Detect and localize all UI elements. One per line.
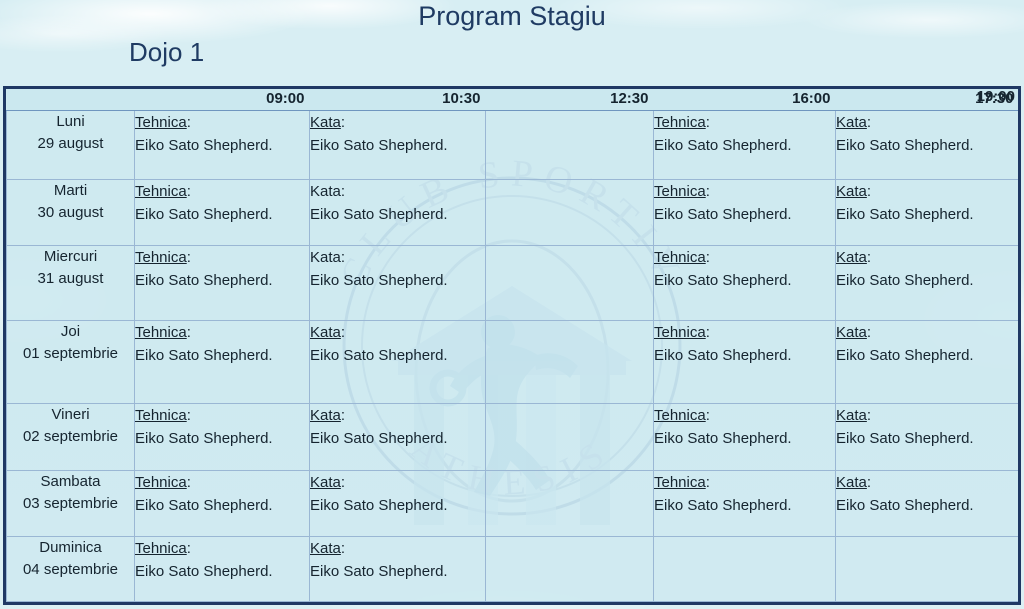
schedule-row: Vineri02 septembrieTehnica:Eiko Sato She… [7, 404, 1019, 471]
day-cell: Joi01 septembrie [7, 320, 135, 404]
schedule-slot-empty [654, 537, 836, 602]
day-cell: Vineri02 septembrie [7, 404, 135, 471]
slot-label-colon: : [341, 540, 345, 557]
slot-instructor: Eiko Sato Shepherd. [654, 134, 835, 157]
slot-instructor: Eiko Sato Shepherd. [135, 134, 309, 157]
slot-instructor: Eiko Sato Shepherd. [310, 344, 485, 367]
slot-label-colon: : [187, 183, 191, 200]
slot-label-colon: : [341, 474, 345, 491]
day-date: 31 august [7, 268, 134, 290]
schedule-slot: Kata:Eiko Sato Shepherd. [310, 111, 486, 180]
slot-activity-name: Kata [310, 324, 341, 341]
schedule-slot-empty [836, 537, 1019, 602]
slot-instructor: Eiko Sato Shepherd. [654, 427, 835, 450]
schedule-slot: Tehnica:Eiko Sato Shepherd. [135, 470, 310, 537]
slot-activity-label: Kata: [310, 404, 345, 427]
slot-instructor: Eiko Sato Shepherd. [654, 203, 835, 226]
slot-activity-name: Kata [836, 249, 867, 266]
slot-activity-label: Kata: [310, 471, 345, 494]
slot-label-colon: : [706, 249, 710, 266]
slot-instructor: Eiko Sato Shepherd. [135, 494, 309, 517]
slot-activity-label: Kata: [310, 246, 345, 269]
schedule-slot-empty [486, 537, 654, 602]
schedule-slot: Tehnica:Eiko Sato Shepherd. [654, 404, 836, 471]
time-header-0900: 09:00 [135, 89, 310, 111]
slot-activity-label: Kata: [836, 246, 871, 269]
schedule-body: Luni29 augustTehnica:Eiko Sato Shepherd.… [7, 111, 1019, 602]
schedule-slot: Kata:Eiko Sato Shepherd. [836, 179, 1019, 246]
slot-activity-name: Kata [836, 474, 867, 491]
day-date: 03 septembrie [7, 493, 134, 515]
slot-label-colon: : [187, 540, 191, 557]
schedule-slot: Kata:Eiko Sato Shepherd. [836, 470, 1019, 537]
slot-label-colon: : [187, 324, 191, 341]
day-cell: Luni29 august [7, 111, 135, 180]
slot-activity-name: Tehnica [135, 324, 187, 341]
schedule-slot: Kata:Eiko Sato Shepherd. [310, 470, 486, 537]
schedule-slot: Tehnica:Eiko Sato Shepherd. [135, 111, 310, 180]
slot-label-colon: : [867, 407, 871, 424]
slot-activity-name: Tehnica [135, 114, 187, 131]
slot-label-colon: : [706, 114, 710, 131]
time-header-row: 09:00 10:30 12:30 16:00 17:30 [7, 89, 1019, 111]
slot-activity-label: Tehnica: [135, 404, 191, 427]
slot-label-colon: : [341, 407, 345, 424]
schedule-slot: Tehnica:Eiko Sato Shepherd. [135, 404, 310, 471]
slot-activity-label: Kata: [836, 404, 871, 427]
slot-activity-label: Tehnica: [654, 321, 710, 344]
slot-instructor: Eiko Sato Shepherd. [310, 494, 485, 517]
slot-activity-label: Tehnica: [654, 111, 710, 134]
slot-label-colon: : [706, 407, 710, 424]
schedule-slot: Kata:Eiko Sato Shepherd. [310, 246, 486, 321]
slot-label-colon: : [867, 114, 871, 131]
slot-activity-name: Tehnica [654, 114, 706, 131]
schedule-table-frame: CLUB SPORTIV ATHESIS 09:00 10:30 12:30 [3, 86, 1021, 605]
slot-instructor: Eiko Sato Shepherd. [836, 134, 1018, 157]
schedule-slot-empty [486, 111, 654, 180]
day-name: Duminica [7, 537, 134, 559]
slot-instructor: Eiko Sato Shepherd. [654, 269, 835, 292]
slot-label-colon: : [341, 183, 345, 200]
day-date: 30 august [7, 202, 134, 224]
schedule-slot: Tehnica:Eiko Sato Shepherd. [135, 179, 310, 246]
schedule-slot: Kata:Eiko Sato Shepherd. [836, 404, 1019, 471]
slot-instructor: Eiko Sato Shepherd. [836, 344, 1018, 367]
slot-instructor: Eiko Sato Shepherd. [654, 494, 835, 517]
slot-activity-name: Kata [310, 183, 341, 200]
slot-activity-name: Kata [836, 114, 867, 131]
schedule-slot: Tehnica:Eiko Sato Shepherd. [654, 470, 836, 537]
slot-activity-name: Tehnica [135, 183, 187, 200]
slot-activity-name: Tehnica [135, 249, 187, 266]
time-header-1230: 12:30 [486, 89, 654, 111]
slot-label-colon: : [187, 474, 191, 491]
slot-activity-name: Tehnica [654, 474, 706, 491]
schedule-row: Luni29 augustTehnica:Eiko Sato Shepherd.… [7, 111, 1019, 180]
schedule-slot-empty [486, 404, 654, 471]
slot-activity-name: Kata [310, 114, 341, 131]
slot-instructor: Eiko Sato Shepherd. [310, 269, 485, 292]
schedule-row: Sambata03 septembrieTehnica:Eiko Sato Sh… [7, 470, 1019, 537]
day-name: Marti [7, 180, 134, 202]
slot-instructor: Eiko Sato Shepherd. [310, 427, 485, 450]
slot-label-colon: : [867, 249, 871, 266]
slot-activity-label: Tehnica: [135, 180, 191, 203]
slot-instructor: Eiko Sato Shepherd. [836, 269, 1018, 292]
slot-activity-label: Tehnica: [135, 471, 191, 494]
slot-label-colon: : [706, 474, 710, 491]
slot-activity-label: Kata: [836, 471, 871, 494]
schedule-slot: Tehnica:Eiko Sato Shepherd. [135, 537, 310, 602]
schedule-table: 09:00 10:30 12:30 16:00 17:30 Luni29 aug… [6, 89, 1019, 602]
slot-activity-label: Tehnica: [654, 404, 710, 427]
day-date: 02 septembrie [7, 426, 134, 448]
slot-activity-label: Kata: [310, 537, 345, 560]
schedule-slot: Kata:Eiko Sato Shepherd. [836, 111, 1019, 180]
schedule-slot-empty [486, 320, 654, 404]
day-name: Luni [7, 111, 134, 133]
day-name: Miercuri [7, 246, 134, 268]
schedule-slot: Kata:Eiko Sato Shepherd. [310, 404, 486, 471]
slot-label-colon: : [706, 183, 710, 200]
time-header-1730: 17:30 [836, 89, 1019, 111]
slot-activity-label: Tehnica: [135, 537, 191, 560]
slot-instructor: Eiko Sato Shepherd. [836, 494, 1018, 517]
schedule-slot: Tehnica:Eiko Sato Shepherd. [654, 111, 836, 180]
slot-instructor: Eiko Sato Shepherd. [654, 344, 835, 367]
slot-instructor: Eiko Sato Shepherd. [836, 427, 1018, 450]
schedule-row: Miercuri31 augustTehnica:Eiko Sato Sheph… [7, 246, 1019, 321]
slot-activity-name: Tehnica [135, 540, 187, 557]
time-header-1600: 16:00 [654, 89, 836, 111]
slot-label-colon: : [187, 249, 191, 266]
day-date: 29 august [7, 133, 134, 155]
slot-label-colon: : [187, 114, 191, 131]
schedule-slot-empty [486, 246, 654, 321]
day-cell: Miercuri31 august [7, 246, 135, 321]
slot-activity-name: Kata [310, 249, 341, 266]
schedule-slot: Tehnica:Eiko Sato Shepherd. [654, 320, 836, 404]
slot-activity-name: Kata [310, 474, 341, 491]
slot-activity-name: Kata [836, 324, 867, 341]
day-date: 04 septembrie [7, 559, 134, 581]
day-cell: Marti30 august [7, 179, 135, 246]
slot-activity-label: Tehnica: [654, 180, 710, 203]
slot-activity-name: Tehnica [135, 407, 187, 424]
slot-activity-label: Tehnica: [135, 246, 191, 269]
schedule-slot-empty [486, 179, 654, 246]
slot-instructor: Eiko Sato Shepherd. [310, 560, 485, 583]
slot-activity-label: Kata: [836, 111, 871, 134]
slot-activity-label: Tehnica: [135, 111, 191, 134]
day-name: Vineri [7, 404, 134, 426]
schedule-row: Duminica04 septembrieTehnica:Eiko Sato S… [7, 537, 1019, 602]
schedule-slot: Kata:Eiko Sato Shepherd. [310, 537, 486, 602]
schedule-slot-empty [486, 470, 654, 537]
slot-instructor: Eiko Sato Shepherd. [135, 560, 309, 583]
slot-instructor: Eiko Sato Shepherd. [135, 269, 309, 292]
slot-activity-name: Tehnica [654, 249, 706, 266]
slot-label-colon: : [341, 249, 345, 266]
schedule-slot: Kata:Eiko Sato Shepherd. [310, 320, 486, 404]
slot-label-colon: : [341, 114, 345, 131]
day-name: Sambata [7, 471, 134, 493]
slot-label-colon: : [867, 474, 871, 491]
slot-instructor: Eiko Sato Shepherd. [310, 203, 485, 226]
slot-activity-name: Tehnica [135, 474, 187, 491]
schedule-slot: Tehnica:Eiko Sato Shepherd. [135, 320, 310, 404]
slot-label-colon: : [867, 324, 871, 341]
schedule-slot: Kata:Eiko Sato Shepherd. [836, 246, 1019, 321]
schedule-slot: Kata:Eiko Sato Shepherd. [836, 320, 1019, 404]
slot-label-colon: : [187, 407, 191, 424]
day-cell: Duminica04 septembrie [7, 537, 135, 602]
schedule-row: Joi01 septembrieTehnica:Eiko Sato Shephe… [7, 320, 1019, 404]
slot-instructor: Eiko Sato Shepherd. [135, 203, 309, 226]
schedule-slot: Tehnica:Eiko Sato Shepherd. [135, 246, 310, 321]
slot-activity-name: Kata [836, 407, 867, 424]
slot-activity-label: Kata: [310, 321, 345, 344]
slot-activity-label: Kata: [310, 180, 345, 203]
slot-activity-label: Kata: [310, 111, 345, 134]
slot-label-colon: : [706, 324, 710, 341]
time-header-1030: 10:30 [310, 89, 486, 111]
slot-label-colon: : [341, 324, 345, 341]
slot-activity-name: Tehnica [654, 183, 706, 200]
slot-activity-name: Kata [310, 540, 341, 557]
slot-activity-label: Tehnica: [654, 246, 710, 269]
day-cell: Sambata03 septembrie [7, 470, 135, 537]
slot-activity-name: Tehnica [654, 407, 706, 424]
schedule-slot: Kata:Eiko Sato Shepherd. [310, 179, 486, 246]
schedule-row: Marti30 augustTehnica:Eiko Sato Shepherd… [7, 179, 1019, 246]
slot-instructor: Eiko Sato Shepherd. [310, 134, 485, 157]
page-title: Program Stagiu [0, 0, 1024, 32]
dojo-title: Dojo 1 [129, 37, 204, 67]
schedule-slot: Tehnica:Eiko Sato Shepherd. [654, 246, 836, 321]
schedule-slot: Tehnica:Eiko Sato Shepherd. [654, 179, 836, 246]
slot-instructor: Eiko Sato Shepherd. [836, 203, 1018, 226]
slot-activity-name: Kata [836, 183, 867, 200]
slot-activity-name: Tehnica [654, 324, 706, 341]
slot-label-colon: : [867, 183, 871, 200]
slot-activity-label: Kata: [836, 321, 871, 344]
slot-activity-label: Tehnica: [654, 471, 710, 494]
slot-instructor: Eiko Sato Shepherd. [135, 344, 309, 367]
day-date: 01 septembrie [7, 343, 134, 365]
slot-activity-name: Kata [310, 407, 341, 424]
slot-activity-label: Tehnica: [135, 321, 191, 344]
day-name: Joi [7, 321, 134, 343]
slot-instructor: Eiko Sato Shepherd. [135, 427, 309, 450]
time-header-corner [7, 89, 135, 111]
slot-activity-label: Kata: [836, 180, 871, 203]
